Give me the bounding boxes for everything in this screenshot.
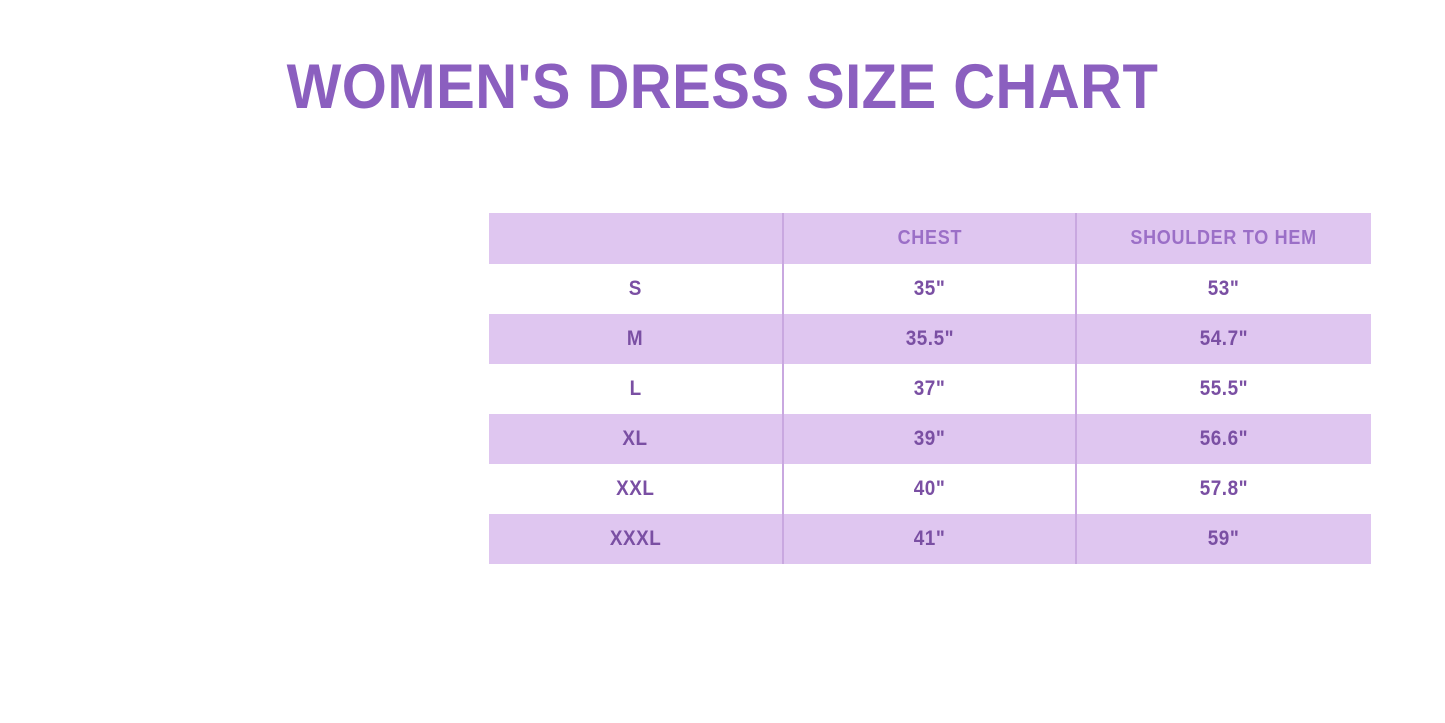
table-row: XL 39" 56.6" — [489, 414, 1371, 464]
size-chart-table: CHEST SHOULDER TO HEM S 35" 53" — [489, 213, 1371, 564]
cell-size-value: M — [627, 327, 643, 351]
table-header-row: CHEST SHOULDER TO HEM — [489, 213, 1371, 264]
table-row: M 35.5" 54.7" — [489, 314, 1371, 364]
cell-chest: 40" — [783, 464, 1076, 514]
cell-chest: 37" — [783, 364, 1076, 414]
cell-shoulder-to-hem: 55.5" — [1076, 364, 1371, 414]
cell-shoulder-to-hem: 57.8" — [1076, 464, 1371, 514]
cell-size-value: S — [629, 277, 642, 301]
table-row: S 35" 53" — [489, 264, 1371, 314]
column-header-size — [489, 213, 783, 264]
cell-shoulder-to-hem: 59" — [1076, 514, 1371, 564]
cell-shoulder-to-hem: 53" — [1076, 264, 1371, 314]
cell-shoulder-to-hem: 54.7" — [1076, 314, 1371, 364]
cell-size-value: XXL — [616, 477, 654, 501]
cell-shoulder-to-hem-value: 53" — [1208, 277, 1240, 301]
table-header: CHEST SHOULDER TO HEM — [489, 213, 1371, 264]
cell-size-value: XL — [623, 427, 648, 451]
cell-size: XXL — [489, 464, 783, 514]
cell-size: M — [489, 314, 783, 364]
cell-chest-value: 39" — [914, 427, 946, 451]
table-row: XXL 40" 57.8" — [489, 464, 1371, 514]
cell-chest-value: 35" — [914, 277, 946, 301]
table-row: XXXL 41" 59" — [489, 514, 1371, 564]
cell-chest-value: 41" — [914, 527, 946, 551]
cell-shoulder-to-hem-value: 55.5" — [1200, 377, 1248, 401]
column-header-chest-label: CHEST — [897, 227, 962, 250]
cell-shoulder-to-hem-value: 54.7" — [1200, 327, 1248, 351]
cell-size: XL — [489, 414, 783, 464]
cell-shoulder-to-hem-value: 59" — [1208, 527, 1240, 551]
cell-chest: 41" — [783, 514, 1076, 564]
cell-size-value: XXXL — [610, 527, 662, 551]
cell-shoulder-to-hem-value: 56.6" — [1200, 427, 1248, 451]
column-header-shoulder-to-hem-label: SHOULDER TO HEM — [1131, 227, 1317, 250]
size-chart-table-container: CHEST SHOULDER TO HEM S 35" 53" — [489, 213, 1371, 566]
cell-shoulder-to-hem-value: 57.8" — [1200, 477, 1248, 501]
cell-chest: 35" — [783, 264, 1076, 314]
cell-size-value: L — [629, 377, 641, 401]
cell-chest-value: 40" — [914, 477, 946, 501]
cell-size: S — [489, 264, 783, 314]
column-header-chest: CHEST — [783, 213, 1076, 264]
size-chart-page: WOMEN'S DRESS SIZE CHART CHEST SHOULDER … — [0, 0, 1445, 723]
cell-chest-value: 37" — [914, 377, 946, 401]
cell-chest-value: 35.5" — [905, 327, 953, 351]
page-title: WOMEN'S DRESS SIZE CHART — [58, 52, 1387, 122]
cell-size: XXXL — [489, 514, 783, 564]
cell-chest: 35.5" — [783, 314, 1076, 364]
table-body: S 35" 53" M 35.5" — [489, 264, 1371, 564]
cell-chest: 39" — [783, 414, 1076, 464]
column-header-shoulder-to-hem: SHOULDER TO HEM — [1076, 213, 1371, 264]
cell-shoulder-to-hem: 56.6" — [1076, 414, 1371, 464]
cell-size: L — [489, 364, 783, 414]
table-row: L 37" 55.5" — [489, 364, 1371, 414]
